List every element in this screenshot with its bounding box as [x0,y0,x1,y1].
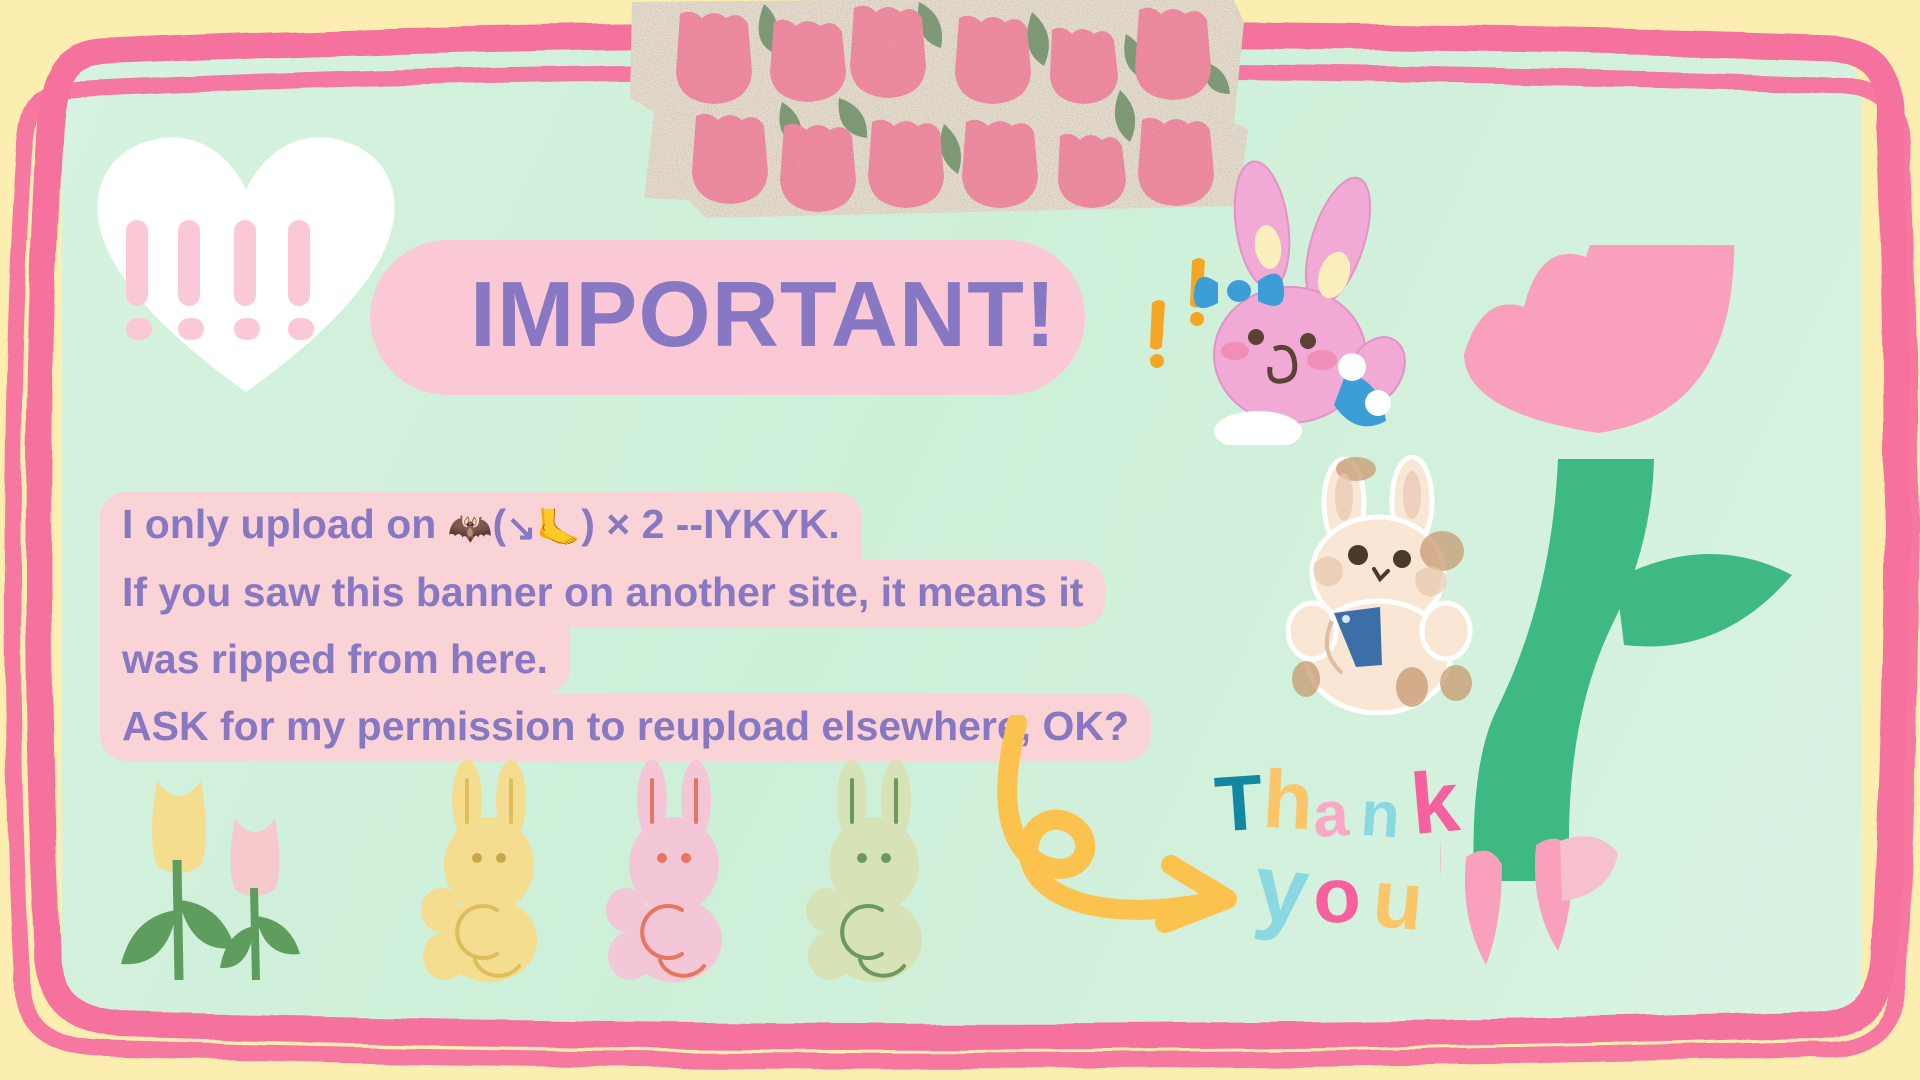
blue-bow-icon [1194,274,1284,309]
ty-letter-o: o [1312,855,1362,935]
ty-letter-u: u [1370,858,1427,944]
ty-letter-a: a [1311,781,1350,847]
ty-letter-y: y [1250,839,1313,940]
gummy-bunny-green [800,760,950,990]
message-line-3: was ripped from here. [100,627,570,694]
banner-canvas: IMPORTANT! I only upload on 🦇(↘🦶) × 2 --… [0,0,1920,1080]
tulip-pink [220,818,300,980]
message-line-4: ASK for my permission to reupload elsewh… [100,694,1151,761]
ty-letter-k: k [1407,758,1462,848]
small-tulips [95,760,335,990]
ty-letter-h: h [1261,759,1315,844]
white-heart-badge [86,130,406,400]
message-line-2: If you saw this banner on another site, … [100,560,1105,627]
pink-bunny-character [1140,155,1430,445]
foot-emoji: 🦶 [536,507,581,548]
ty-letter-T: T [1212,762,1265,843]
tulip-yellow [121,780,235,980]
surprise-marks [1150,258,1205,368]
gummy-bunny-pink [600,760,750,990]
ty-letter-n: n [1359,781,1402,848]
gummy-bunny-yellow [415,760,565,990]
thank-you-lettering: T h a n k y o u [1215,760,1515,975]
down-right-arrow-icon: ↘ [506,507,536,548]
page-title: IMPORTANT! [470,268,1057,361]
message-line-1: I only upload on 🦇(↘🦶) × 2 --IYKYK. [100,492,862,560]
bat-emoji: 🦇 [448,507,493,548]
